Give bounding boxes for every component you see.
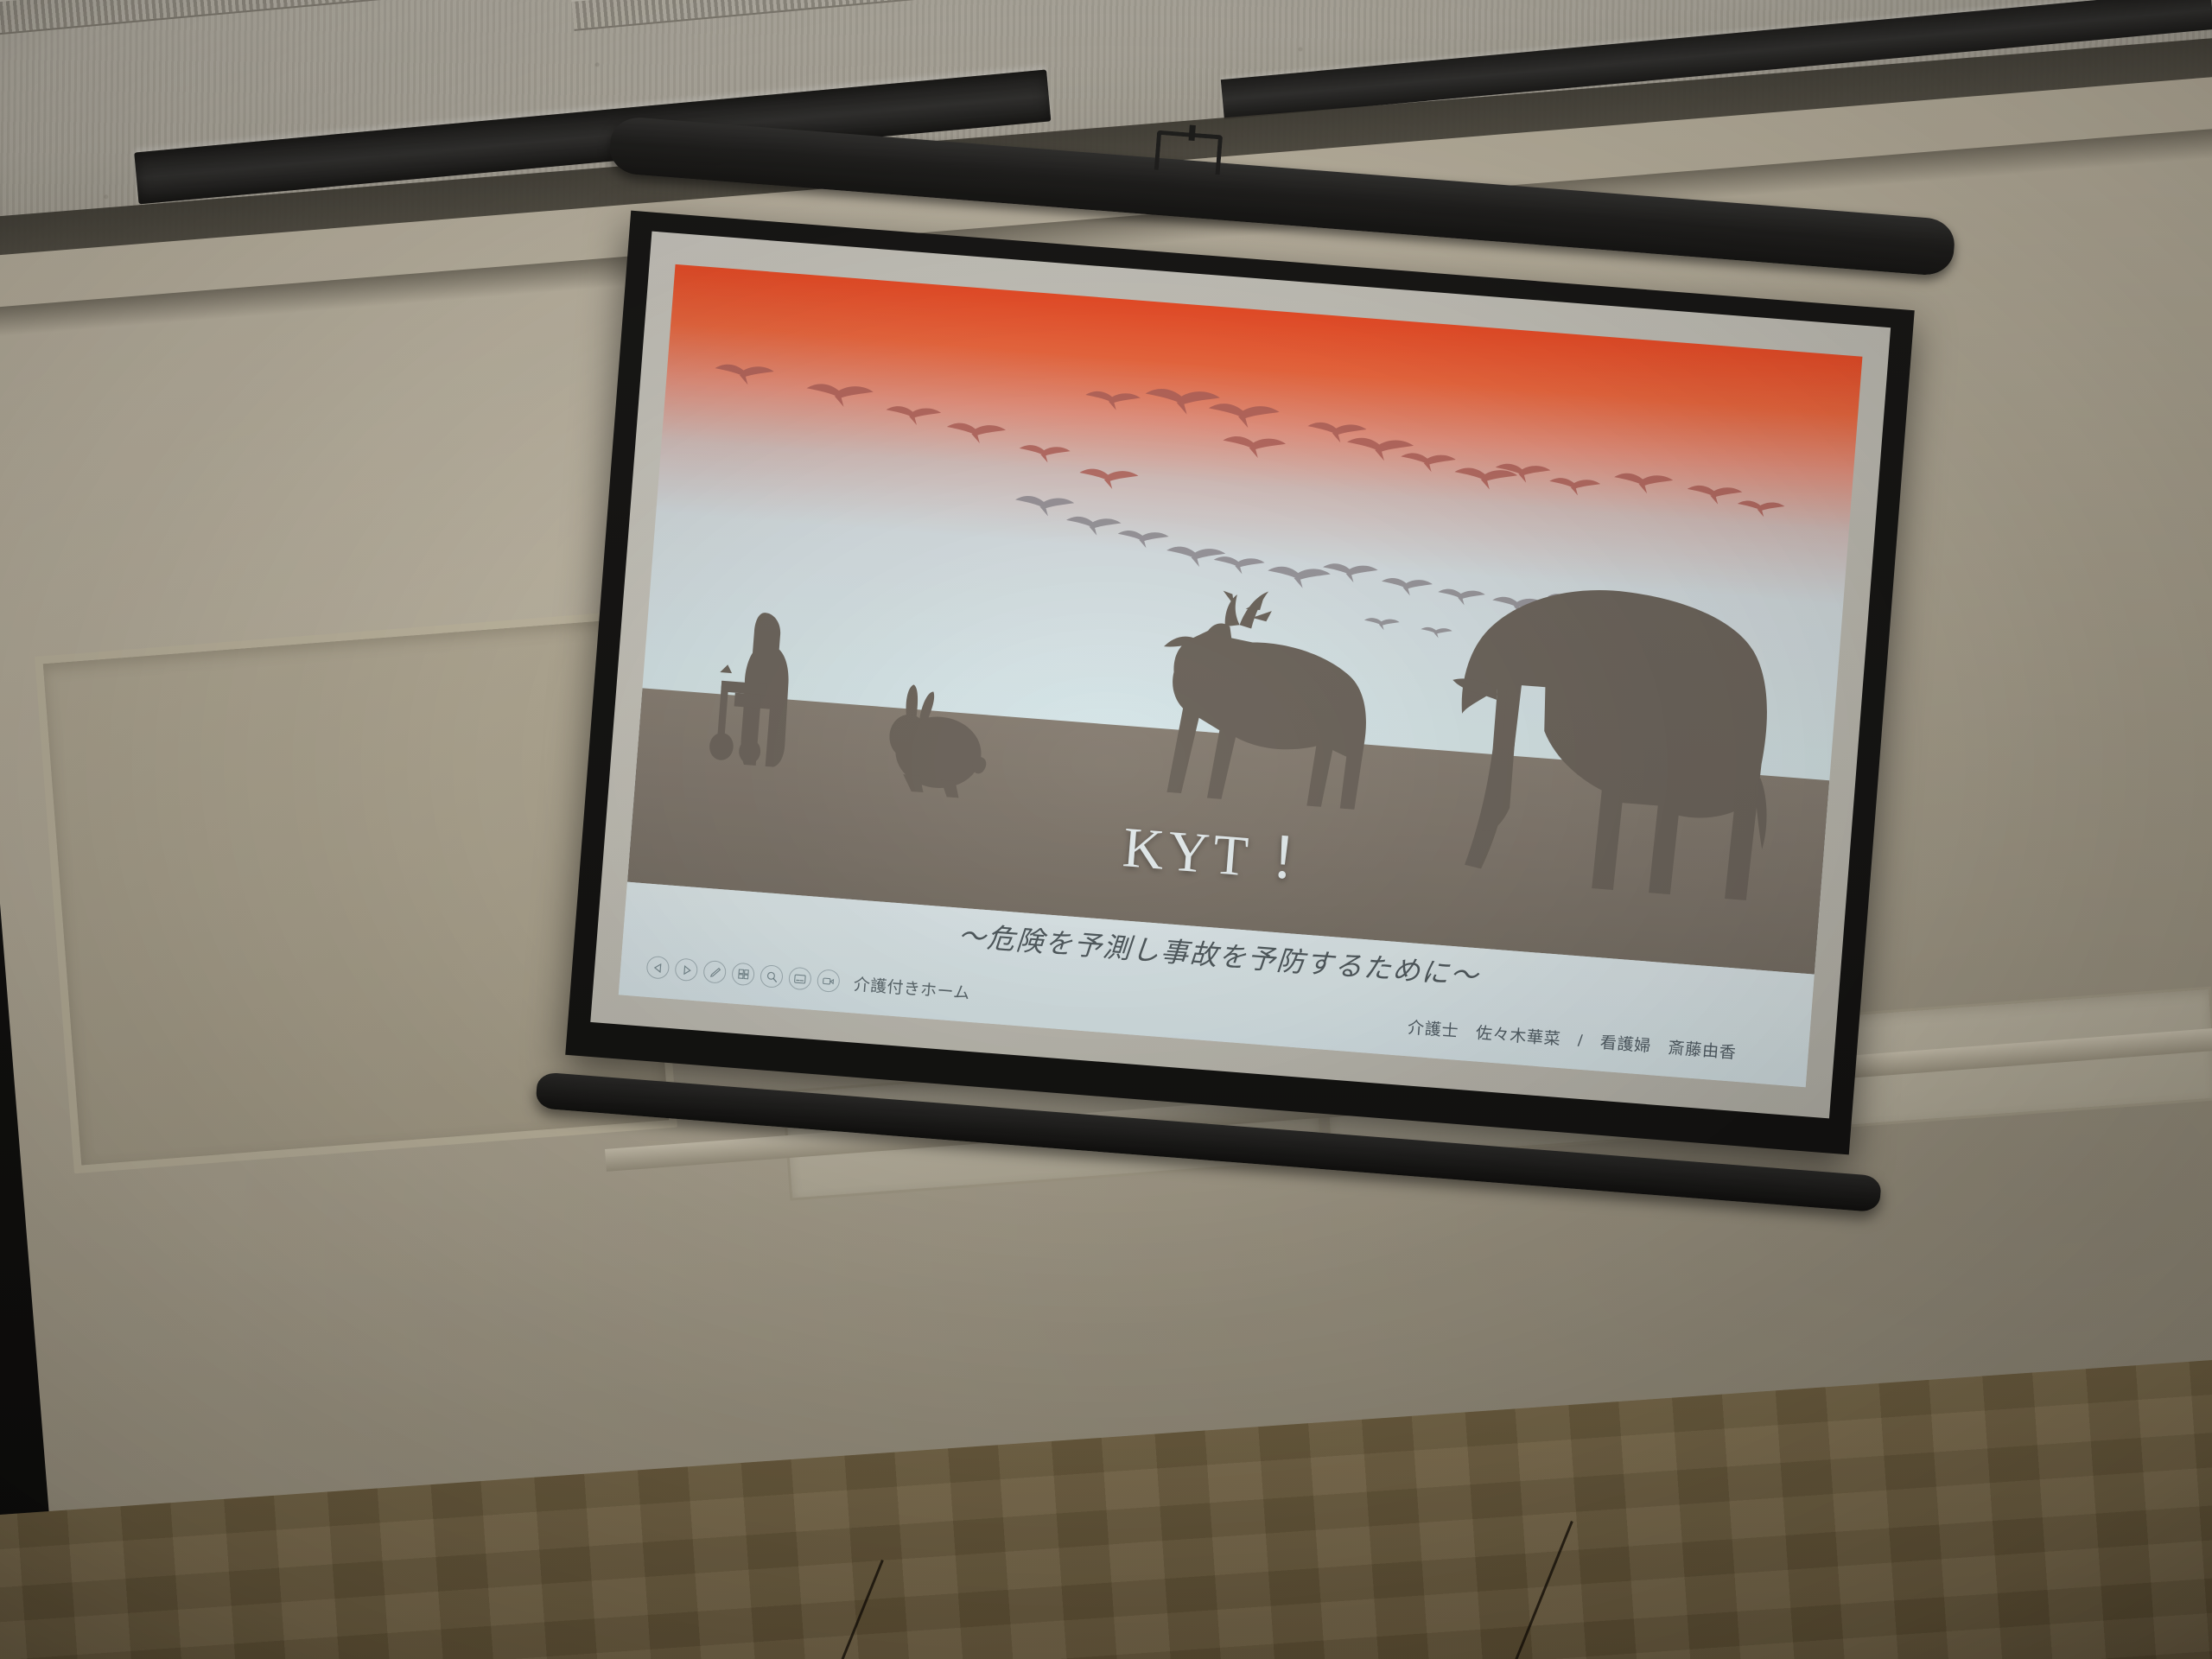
screen-mount-bracket	[1154, 130, 1223, 175]
previous-slide-button[interactable]	[646, 956, 671, 980]
triangle-right-icon	[682, 965, 692, 976]
camera-options-icon	[823, 976, 836, 986]
presentation-slide[interactable]: KYT ！ 〜危険を予測し事故を予防するために〜	[619, 264, 1863, 1087]
next-slide-button[interactable]	[675, 958, 699, 982]
subtitles-icon	[794, 974, 807, 984]
organization-label: 介護付きホーム	[853, 971, 971, 1003]
projection-screen-assembly: KYT ！ 〜危険を予測し事故を予防するために〜	[565, 211, 1915, 1155]
pen-tool-button[interactable]	[703, 960, 728, 984]
all-slides-button[interactable]	[731, 963, 755, 987]
screen-black-border: KYT ！ 〜危険を予測し事故を予防するために〜	[565, 211, 1915, 1155]
subtitles-button[interactable]	[788, 967, 812, 991]
presentation-controls	[646, 956, 841, 993]
magnifier-icon	[766, 970, 778, 982]
deer-silhouette	[1153, 583, 1376, 810]
rabbit-silhouette	[885, 683, 992, 799]
screen-surface: KYT ！ 〜危険を予測し事故を予防するために〜	[590, 232, 1891, 1119]
grid-slides-icon	[737, 969, 749, 980]
room-photo-scene: KYT ！ 〜危険を予測し事故を予防するために〜	[0, 0, 2212, 1659]
pen-icon	[709, 966, 721, 978]
more-options-button[interactable]	[817, 969, 841, 993]
zoom-in-button[interactable]	[760, 964, 784, 988]
triangle-left-icon	[653, 963, 664, 973]
wheelchair-person-silhouette	[709, 609, 795, 767]
